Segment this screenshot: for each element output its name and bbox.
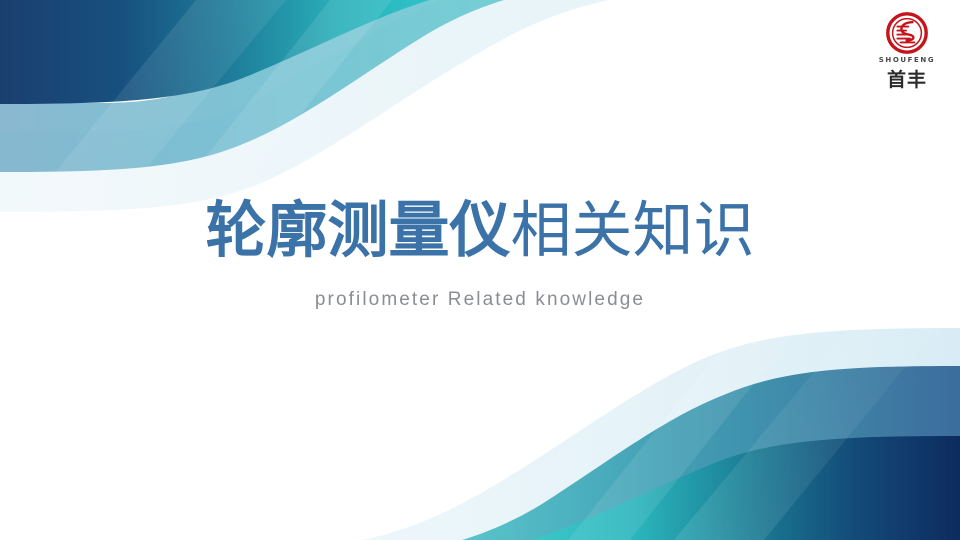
logo-latin-text: SHOUFENG <box>858 56 956 64</box>
company-logo: SHOUFENG 首丰 <box>858 12 956 88</box>
logo-chinese-text: 首丰 <box>858 65 956 92</box>
page-title-secondary: 相关知识 <box>511 196 755 264</box>
page-title: 轮廓测量仪相关知识 <box>0 196 960 264</box>
slide-canvas: 轮廓测量仪相关知识 profilometer Related knowledge… <box>0 0 960 540</box>
shoufeng-circular-emblem-icon <box>886 12 928 54</box>
title-block: 轮廓测量仪相关知识 profilometer Related knowledge <box>0 196 960 311</box>
page-title-primary: 轮廓测量仪 <box>205 196 510 264</box>
bottom-right-wave-decoration <box>260 300 960 540</box>
page-subtitle: profilometer Related knowledge <box>0 264 960 311</box>
